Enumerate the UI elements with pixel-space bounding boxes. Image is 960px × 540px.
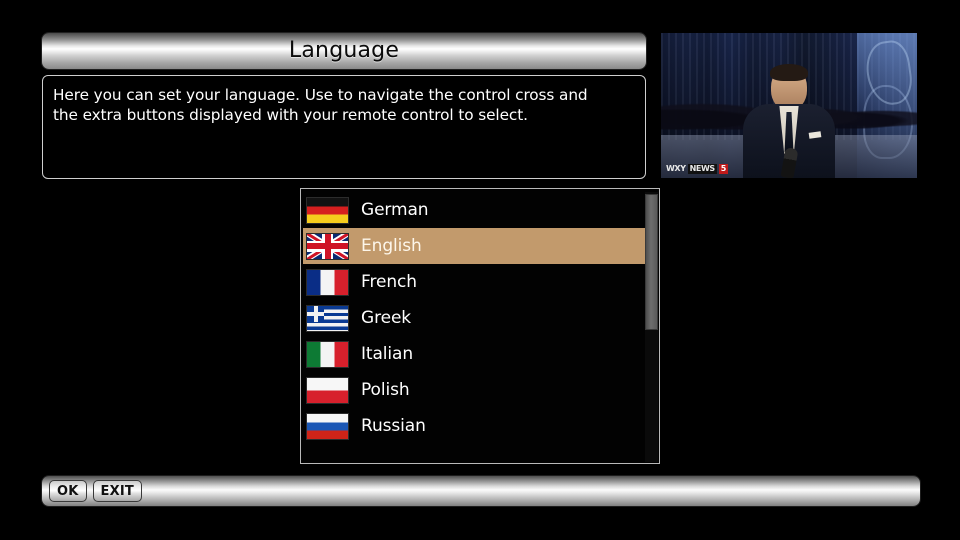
video-reporter (741, 66, 837, 178)
title-bar: Language (42, 33, 646, 69)
bottom-button-bar: OK EXIT (42, 476, 920, 506)
video-background: WXY NEWS 5 (661, 33, 917, 178)
video-preview[interactable]: WXY NEWS 5 (661, 33, 917, 178)
language-row-polish[interactable]: Polish (303, 372, 645, 408)
language-label: Russian (361, 418, 426, 435)
language-label: English (361, 238, 422, 255)
language-row-german[interactable]: German (303, 192, 645, 228)
exit-button[interactable]: EXIT (93, 480, 142, 502)
language-row-greek[interactable]: Greek (303, 300, 645, 336)
language-row-english[interactable]: English (303, 228, 645, 264)
language-label: German (361, 202, 428, 219)
flag-united-kingdom-icon (306, 233, 349, 260)
language-row-russian[interactable]: Russian (303, 408, 645, 444)
tv-settings-screen: Language Here you can set your language.… (0, 0, 960, 540)
channel-bug-text-1: WXY (666, 164, 686, 174)
language-label: French (361, 274, 417, 291)
channel-logo-bug: WXY NEWS 5 (666, 164, 728, 174)
language-list-panel[interactable]: GermanEnglishFrenchGreekItalianPolishRus… (300, 188, 660, 464)
channel-bug-text-3: 5 (719, 164, 728, 174)
language-label: Italian (361, 346, 413, 363)
flag-russia-icon (306, 413, 349, 440)
description-text: Here you can set your language. Use to n… (53, 85, 633, 126)
page-title: Language (289, 40, 399, 62)
reporter-hair (770, 64, 808, 81)
language-label: Polish (361, 382, 410, 399)
flag-italy-icon (306, 341, 349, 368)
flag-poland-icon (306, 377, 349, 404)
description-panel: Here you can set your language. Use to n… (42, 75, 646, 179)
language-list[interactable]: GermanEnglishFrenchGreekItalianPolishRus… (303, 192, 645, 444)
flag-germany-icon (306, 197, 349, 224)
greek-cross-canton (307, 312, 324, 316)
language-row-italian[interactable]: Italian (303, 336, 645, 372)
union-jack-stripe (325, 234, 331, 259)
scrollbar-thumb[interactable] (645, 194, 658, 330)
language-row-french[interactable]: French (303, 264, 645, 300)
flag-france-icon (306, 269, 349, 296)
ok-button[interactable]: OK (49, 480, 87, 502)
channel-bug-text-2: NEWS (688, 164, 717, 174)
language-label: Greek (361, 310, 411, 327)
scrollbar-track[interactable] (645, 192, 658, 462)
flag-greece-icon (306, 305, 349, 332)
